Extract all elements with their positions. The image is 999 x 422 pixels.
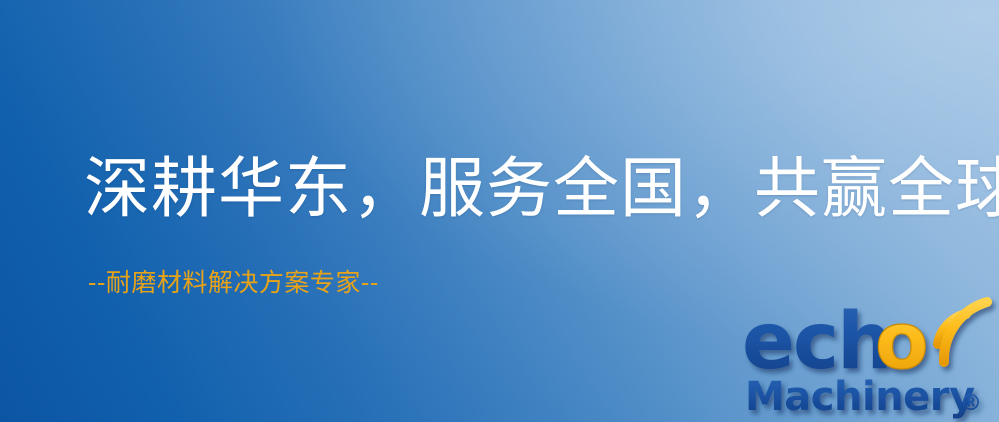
signal-waves-icon	[938, 302, 987, 362]
banner-subtitle: --耐磨材料解决方案专家--	[88, 268, 379, 298]
echo-machinery-logo[interactable]: ech o Machinery ®	[742, 292, 999, 422]
logo-tagline: Machinery	[745, 374, 975, 420]
hero-banner: 深耕华东，服务全国，共赢全球 --耐磨材料解决方案专家--	[0, 0, 999, 422]
logo-registered-mark: ®	[960, 391, 982, 416]
banner-headline: 深耕华东，服务全国，共赢全球	[84, 152, 999, 226]
